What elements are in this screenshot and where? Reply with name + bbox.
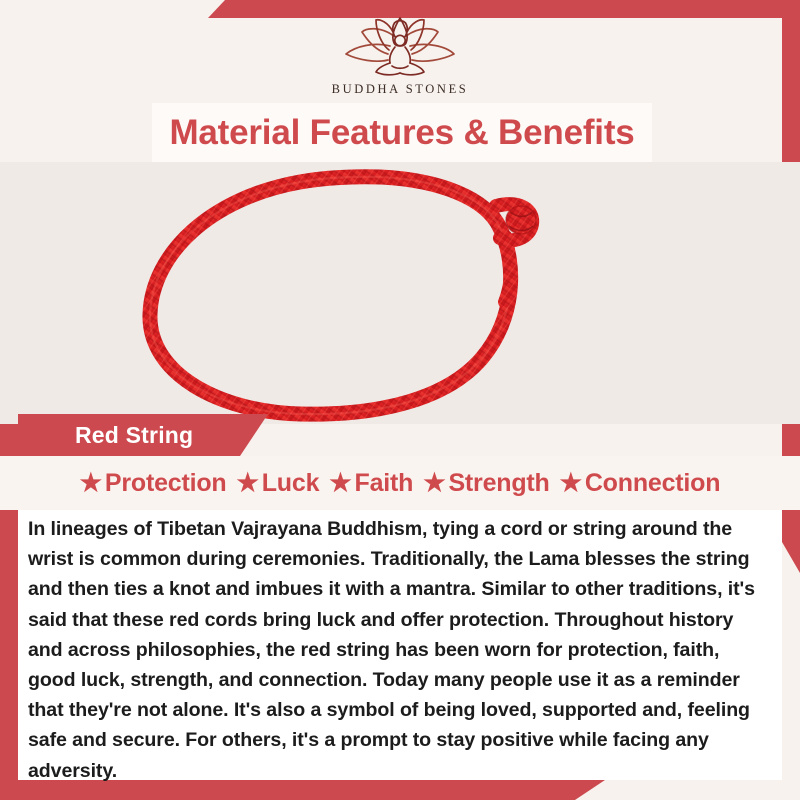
description-card: In lineages of Tibetan Vajrayana Buddhis… — [18, 510, 782, 780]
star-icon: ★ — [80, 471, 102, 496]
benefit-item: ★ Luck — [237, 469, 320, 498]
star-icon: ★ — [423, 471, 445, 496]
lotus-meditation-icon — [336, 16, 464, 78]
benefit-label: Strength — [448, 469, 549, 498]
benefit-label: Luck — [262, 469, 320, 498]
page-title: Material Features & Benefits — [169, 113, 634, 153]
brand-logo: BUDDHA STONES — [0, 16, 800, 97]
benefit-label: Protection — [105, 469, 227, 498]
star-icon: ★ — [560, 471, 582, 496]
benefit-item: ★ Connection — [560, 469, 721, 498]
star-icon: ★ — [237, 471, 259, 496]
benefit-item: ★ Strength — [423, 469, 549, 498]
benefit-item: ★ Faith — [329, 469, 413, 498]
benefit-label: Faith — [355, 469, 414, 498]
brand-name: BUDDHA STONES — [332, 82, 469, 97]
star-icon: ★ — [329, 471, 351, 496]
benefit-item: ★ Protection — [80, 469, 227, 498]
section-ribbon: Red String — [18, 414, 268, 456]
title-banner: Material Features & Benefits — [152, 103, 652, 162]
red-string-bracelet-image — [0, 162, 800, 424]
infographic-page: BUDDHA STONES Material Features & Benefi… — [0, 0, 800, 800]
description-paragraph: In lineages of Tibetan Vajrayana Buddhis… — [28, 514, 764, 786]
section-ribbon-label: Red String — [75, 422, 193, 449]
product-image-area — [0, 162, 800, 424]
benefits-list: ★ Protection ★ Luck ★ Faith ★ Strength ★… — [0, 456, 800, 510]
benefit-label: Connection — [585, 469, 721, 498]
